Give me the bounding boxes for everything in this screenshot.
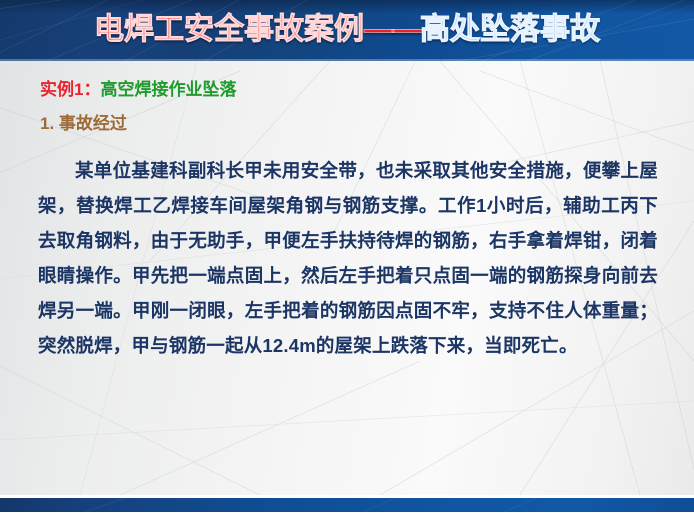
example-heading-label: 实例1：: [40, 80, 100, 99]
slide-header-banner: 电焊工安全事故案例——高处坠落事故: [0, 0, 694, 61]
slide-title-dash: ——: [364, 13, 420, 46]
slide-root: 电焊工安全事故案例——高处坠落事故: [0, 0, 694, 518]
slide-footer-bar: [0, 498, 694, 512]
example-heading: 实例1：高空焊接作业坠落: [40, 79, 236, 101]
section-heading: 1. 事故经过: [40, 113, 127, 135]
footer-base: [0, 512, 694, 518]
slide-title-primary: 电焊工安全事故案例: [94, 13, 364, 46]
accident-description-paragraph: 某单位基建科副科长甲未用安全带，也未采取其他安全措施，便攀上屋架，替换焊工乙焊接…: [38, 153, 658, 363]
example-heading-text: 高空焊接作业坠落: [100, 80, 236, 99]
slide-content-area: 实例1：高空焊接作业坠落 1. 事故经过 某单位基建科副科长甲未用安全带，也未采…: [0, 61, 694, 495]
slide-title-secondary: 高处坠落事故: [420, 13, 600, 46]
slide-title: 电焊工安全事故案例——高处坠落事故: [0, 10, 694, 50]
footer-diagonal-pattern: [0, 498, 694, 512]
